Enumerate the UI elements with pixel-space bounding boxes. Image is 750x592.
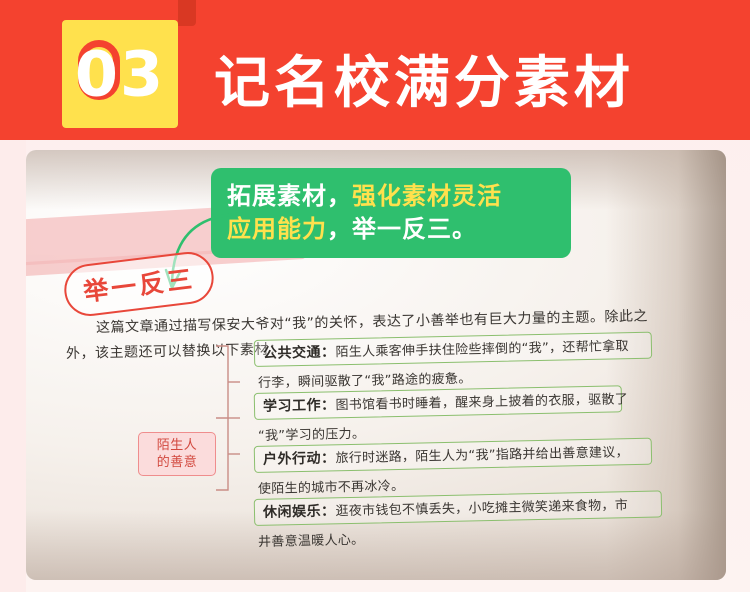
material-item-2-continuation: “我”学习的压力。 (258, 427, 365, 444)
book-photo-area: 拓展素材，强化素材灵活 应用能力，举一反三。 举一反三 这篇文章通过描写保安大爷… (26, 150, 726, 580)
section-number-card: 03 (62, 20, 178, 128)
material-item-4-continuation: 井善意温暖人心。 (258, 533, 365, 550)
material-item-2-category: 学习工作： (263, 397, 336, 415)
green-callout-box: 拓展素材，强化素材灵活 应用能力，举一反三。 (211, 168, 571, 258)
topic-label-line-2: 的善意 (157, 454, 198, 471)
callout-line-1-plain: 拓展素材， (227, 182, 352, 210)
page-title: 记名校满分素材 (214, 38, 634, 119)
header-band: 03 记名校满分素材 (0, 0, 750, 140)
corner-tab-decoration (178, 0, 196, 26)
bracket-connector-icon (214, 328, 254, 508)
material-item-3-category: 户外行动： (263, 450, 336, 468)
material-item-3-continuation-wrap: 使陌生的城市不再冰冷。 (258, 475, 405, 498)
material-item-1-desc: 陌生人乘客伸手扶住险些摔倒的“我”，还帮忙拿取 (335, 339, 629, 360)
material-item-2-desc: 图书馆看书时睡着，醒来身上披着的衣服，驱散了 (335, 392, 628, 413)
material-item-4-row: 休闲娱乐：逛夜市钱包不慎丢失，小吃摊主微笑递来食物，市 (263, 494, 653, 522)
topic-label-line-1: 陌生人 (157, 437, 198, 454)
callout-line-2: 应用能力，举一反三。 (227, 213, 555, 246)
material-item-1-continuation: 行李，瞬间驱散了“我”路途的疲惫。 (258, 372, 472, 391)
material-item-2-row: 学习工作：图书馆看书时睡着，醒来身上披着的衣服，驱散了 (263, 388, 613, 415)
material-item-4-desc: 逛夜市钱包不慎丢失，小吃摊主微笑递来食物，市 (335, 498, 628, 519)
page-background: 03 记名校满分素材 拓展素材，强化素材灵活 应用能力，举一反三。 (0, 0, 750, 592)
material-item-2-continuation-wrap: “我”学习的压力。 (258, 423, 366, 445)
callout-line-1: 拓展素材，强化素材灵活 (227, 180, 555, 213)
callout-line-2-plain: ，举一反三。 (327, 215, 477, 243)
material-item-4-continuation-wrap: 井善意温暖人心。 (258, 529, 365, 551)
topic-label: 陌生人 的善意 (138, 432, 216, 476)
callout-line-1-highlight: 强化素材灵活 (352, 182, 502, 210)
material-item-3-desc: 旅行时迷路，陌生人为“我”指路并给出善意建议， (335, 445, 629, 466)
material-item-1-row: 公共交通：陌生人乘客伸手扶住险些摔倒的“我”，还帮忙拿取 (263, 335, 643, 363)
material-item-4-category: 休闲娱乐： (263, 503, 336, 521)
material-item-3-row: 户外行动：旅行时迷路，陌生人为“我”指路并给出善意建议， (263, 441, 643, 469)
section-number: 03 (62, 38, 178, 111)
material-item-3-continuation: 使陌生的城市不再冰冷。 (258, 479, 405, 497)
book-page: 拓展素材，强化素材灵活 应用能力，举一反三。 举一反三 这篇文章通过描写保安大爷… (26, 150, 726, 580)
material-item-1-category: 公共交通： (263, 344, 336, 362)
